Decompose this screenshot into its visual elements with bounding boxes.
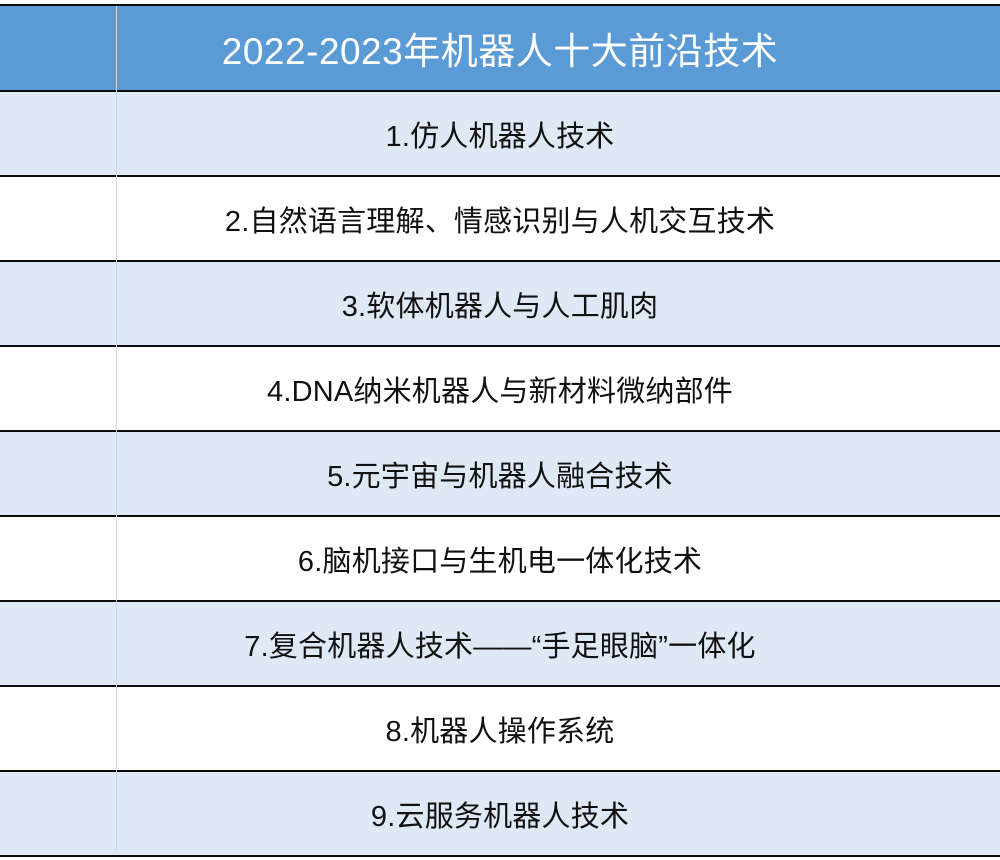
page-title: 2022-2023年机器人十大前沿技术 — [222, 21, 778, 75]
technology-item-cell-8: 8.机器人操作系统 — [0, 686, 1000, 771]
technology-item-label: 6.脑机接口与生机电一体化技术 — [298, 538, 702, 580]
table-row: 9.云服务机器人技术 — [0, 771, 1000, 856]
table-row: 8.机器人操作系统 — [0, 686, 1000, 771]
table-row: 1.仿人机器人技术 — [0, 91, 1000, 176]
technology-item-label: 9.云服务机器人技术 — [371, 793, 629, 835]
technology-item-cell-1: 1.仿人机器人技术 — [0, 91, 1000, 176]
table-header-row: 2022-2023年机器人十大前沿技术 — [0, 5, 1000, 91]
technology-item-label: 4.DNA纳米机器人与新材料微纳部件 — [267, 368, 733, 410]
table-row: 3.软体机器人与人工肌肉 — [0, 261, 1000, 346]
technology-item-cell-3: 3.软体机器人与人工肌肉 — [0, 261, 1000, 346]
technology-item-label: 8.机器人操作系统 — [386, 708, 615, 750]
technology-item-label: 5.元宇宙与机器人融合技术 — [327, 453, 673, 495]
technology-item-cell-2: 2.自然语言理解、情感识别与人机交互技术 — [0, 176, 1000, 261]
technology-item-cell-10: 10.机器人伦理与安全 — [0, 856, 1000, 860]
table-row: 7.复合机器人技术——“手足眼脑”一体化 — [0, 601, 1000, 686]
table-row: 4.DNA纳米机器人与新材料微纳部件 — [0, 346, 1000, 431]
table-row: 2.自然语言理解、情感识别与人机交互技术 — [0, 176, 1000, 261]
technology-item-cell-9: 9.云服务机器人技术 — [0, 771, 1000, 856]
technology-item-label: 1.仿人机器人技术 — [386, 113, 615, 155]
table-title-cell: 2022-2023年机器人十大前沿技术 — [0, 5, 1000, 91]
technology-item-label: 3.软体机器人与人工肌肉 — [342, 283, 659, 325]
technology-item-cell-7: 7.复合机器人技术——“手足眼脑”一体化 — [0, 601, 1000, 686]
tech-list-table-container: 2022-2023年机器人十大前沿技术 1.仿人机器人技术 2.自然语言理解、情… — [0, 0, 1000, 860]
table-row: 6.脑机接口与生机电一体化技术 — [0, 516, 1000, 601]
technology-item-label: 2.自然语言理解、情感识别与人机交互技术 — [225, 198, 775, 240]
table-row: 10.机器人伦理与安全 — [0, 856, 1000, 860]
table-row: 5.元宇宙与机器人融合技术 — [0, 431, 1000, 516]
technology-item-cell-5: 5.元宇宙与机器人融合技术 — [0, 431, 1000, 516]
top-ten-robotics-technologies-table: 2022-2023年机器人十大前沿技术 1.仿人机器人技术 2.自然语言理解、情… — [0, 4, 1000, 860]
technology-item-cell-6: 6.脑机接口与生机电一体化技术 — [0, 516, 1000, 601]
technology-item-cell-4: 4.DNA纳米机器人与新材料微纳部件 — [0, 346, 1000, 431]
technology-item-label: 7.复合机器人技术——“手足眼脑”一体化 — [244, 623, 756, 665]
